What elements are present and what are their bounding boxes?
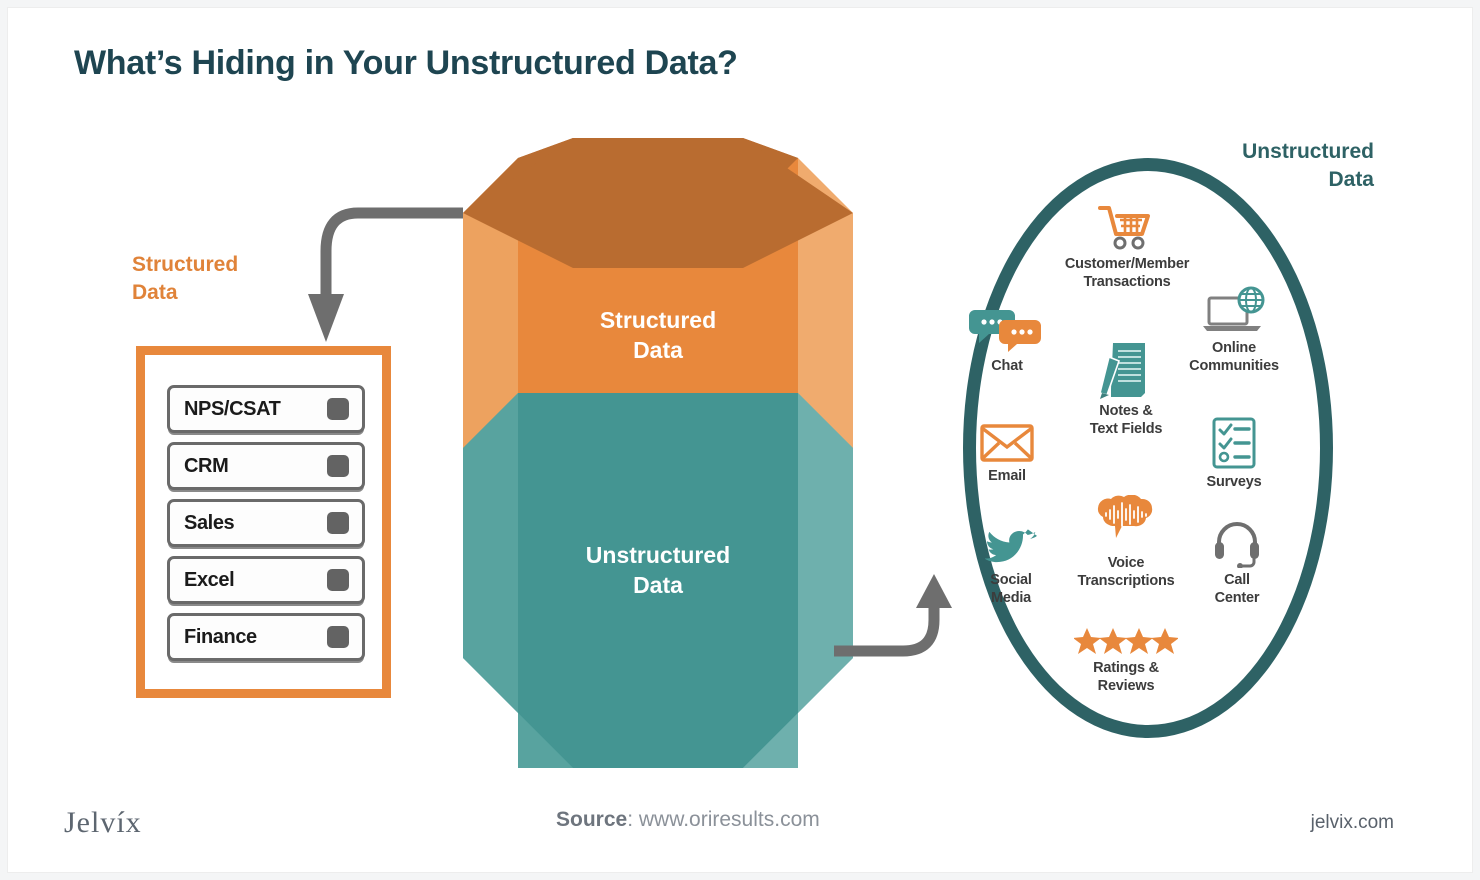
hexagonal-prism-diagram: Structured Data Unstructured Data xyxy=(463,138,853,778)
server-led-icon xyxy=(327,569,349,591)
server-stack: NPS/CSAT CRM Sales Excel Finance xyxy=(167,385,365,661)
item-caption-line2: Center xyxy=(1171,590,1303,608)
server-label: NPS/CSAT xyxy=(184,398,280,421)
server-led-icon xyxy=(327,512,349,534)
server-led-icon xyxy=(327,455,349,477)
server-row: Finance xyxy=(167,613,365,661)
prism-structured-label-line2: Data xyxy=(633,337,683,363)
structured-data-section-label: Structured Data xyxy=(132,251,292,306)
headset-icon xyxy=(1213,520,1261,568)
unstructured-label-line2: Data xyxy=(1328,168,1374,191)
server-label: CRM xyxy=(184,455,228,478)
server-row: CRM xyxy=(167,442,365,490)
arrow-head-down-icon xyxy=(308,294,344,342)
infographic-slide: What’s Hiding in Your Unstructured Data?… xyxy=(8,8,1472,872)
prism-unstructured-label-line1: Unstructured xyxy=(586,542,730,568)
unstructured-label-line1: Unstructured xyxy=(1242,140,1374,163)
source-separator: : xyxy=(627,808,639,831)
item-caption-line1: Surveys xyxy=(1168,474,1300,492)
structured-data-box: NPS/CSAT CRM Sales Excel Finance xyxy=(136,346,391,698)
source-label: Source xyxy=(556,808,627,831)
email-envelope-icon xyxy=(979,422,1035,464)
star-rating-icon xyxy=(1074,628,1178,656)
unstructured-item-chat: Chat xyxy=(951,306,1063,376)
item-caption-line1: Email xyxy=(952,468,1062,486)
unstructured-item-surveys: Surveys xyxy=(1168,416,1300,492)
item-caption-line1: Ratings & xyxy=(1060,660,1192,678)
server-row: Excel xyxy=(167,556,365,604)
server-row: Sales xyxy=(167,499,365,547)
server-label: Excel xyxy=(184,569,234,592)
item-caption-line2: Reviews xyxy=(1060,678,1192,696)
unstructured-item-email: Email xyxy=(952,422,1062,486)
jelvix-logo: Jelvíx xyxy=(64,806,142,840)
site-url: jelvix.com xyxy=(1311,812,1394,834)
item-caption-line1: Chat xyxy=(951,358,1063,376)
unstructured-item-social-media: Social Media xyxy=(959,524,1063,607)
laptop-globe-icon xyxy=(1201,286,1267,336)
item-caption-line1: Call xyxy=(1171,572,1303,590)
server-led-icon xyxy=(327,398,349,420)
twitter-bird-icon xyxy=(985,524,1037,568)
arrow-to-structured-box xyxy=(326,213,463,296)
server-row: NPS/CSAT xyxy=(167,385,365,433)
prism-unstructured-label-line2: Data xyxy=(633,572,683,598)
chat-bubbles-icon xyxy=(969,306,1045,354)
structured-label-line2: Data xyxy=(132,281,178,304)
prism-structured-label-line1: Structured xyxy=(600,307,716,333)
unstructured-item-ratings-reviews: Ratings & Reviews xyxy=(1060,628,1192,695)
item-caption-line2: Media xyxy=(959,590,1063,608)
survey-checklist-icon xyxy=(1211,416,1257,470)
item-caption-line1: Customer/Member xyxy=(1061,256,1193,274)
arrow-head-up-icon xyxy=(916,574,952,608)
structured-label-line1: Structured xyxy=(132,253,238,276)
unstructured-item-customer-transactions: Customer/Member Transactions xyxy=(1061,204,1193,291)
item-caption-line1: Social xyxy=(959,572,1063,590)
source-attribution: Source: www.oriresults.com xyxy=(556,808,820,832)
shopping-cart-icon xyxy=(1098,204,1156,252)
server-led-icon xyxy=(327,626,349,648)
source-url: www.oriresults.com xyxy=(639,808,820,831)
server-label: Sales xyxy=(184,512,234,535)
notes-pencil-icon xyxy=(1099,341,1153,399)
voice-waveform-icon xyxy=(1093,495,1159,551)
unstructured-item-call-center: Call Center xyxy=(1171,520,1303,607)
server-label: Finance xyxy=(184,626,257,649)
page-title: What’s Hiding in Your Unstructured Data? xyxy=(74,44,738,83)
